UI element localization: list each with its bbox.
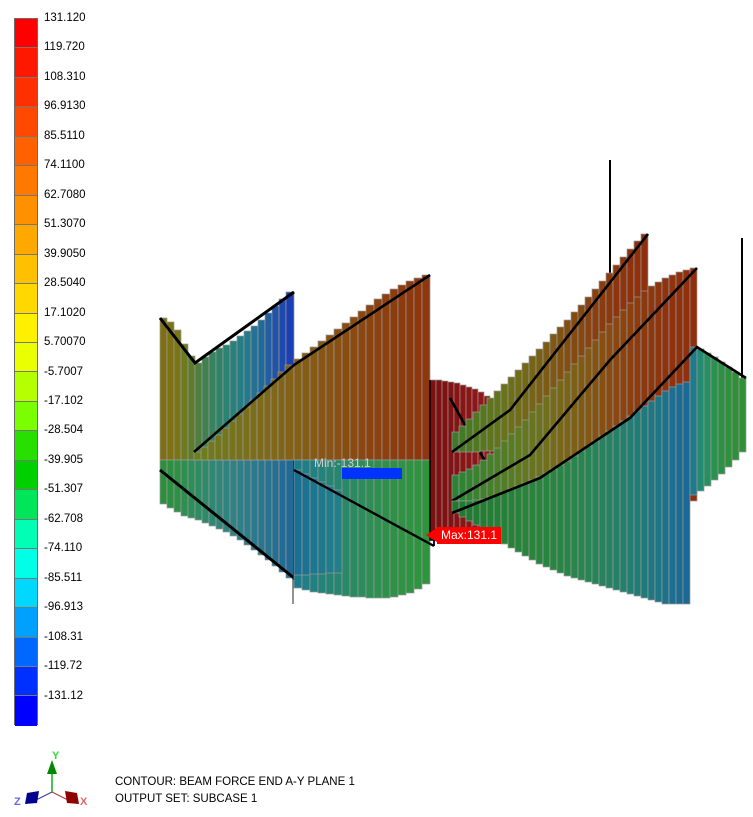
legend-tick-8: 39.9050 — [44, 249, 86, 260]
orientation-axis-triad[interactable]: Y Z X — [14, 752, 90, 812]
legend-tick-10: 17.1020 — [44, 308, 86, 319]
legend-tick-16: -51.307 — [44, 484, 83, 495]
legend-tick-4: 85.5110 — [44, 131, 85, 142]
legend-band-17 — [15, 520, 37, 549]
legend-band-20 — [15, 608, 37, 637]
beam-diagram-svg — [110, 0, 753, 740]
legend-tick-11: 5.70070 — [44, 337, 86, 348]
legend-band-1 — [15, 48, 37, 77]
legend-band-0 — [15, 19, 37, 48]
legend-band-15 — [15, 461, 37, 490]
legend-tick-9: 28.5040 — [44, 278, 86, 289]
legend-tick-20: -96.913 — [44, 602, 83, 613]
legend-tick-6: 62.7080 — [44, 190, 86, 201]
legend-tick-3: 96.9130 — [44, 101, 86, 112]
z-axis-label: Z — [14, 796, 21, 808]
legend-tick-21: -108.31 — [44, 632, 83, 643]
legend-tick-19: -85.511 — [44, 573, 82, 584]
legend-tick-12: -5.7007 — [44, 367, 83, 378]
legend-band-14 — [15, 431, 37, 460]
legend-tick-5: 74.1100 — [44, 160, 85, 171]
contour-legend: 131.120119.720108.31096.913085.511074.11… — [0, 0, 110, 740]
legend-tick-2: 108.310 — [44, 72, 86, 83]
legend-band-12 — [15, 372, 37, 401]
legend-band-11 — [15, 343, 37, 372]
legend-tick-17: -62.708 — [44, 514, 83, 525]
y-axis-arrow-icon — [47, 760, 57, 774]
legend-band-18 — [15, 549, 37, 578]
legend-band-19 — [15, 579, 37, 608]
y-axis-label: Y — [52, 750, 59, 762]
max-value-label[interactable]: Max:131.1 — [437, 527, 501, 544]
contour-caption-line: CONTOUR: BEAM FORCE END A-Y PLANE 1 — [115, 774, 355, 791]
legend-tick-14: -28.504 — [44, 425, 83, 436]
legend-band-21 — [15, 638, 37, 667]
legend-tick-18: -74.110 — [44, 543, 82, 554]
legend-color-bar[interactable] — [14, 18, 38, 725]
legend-tick-0: 131.120 — [44, 13, 86, 24]
beam-group-left-lower[interactable] — [160, 460, 294, 578]
legend-band-6 — [15, 196, 37, 225]
legend-band-9 — [15, 284, 37, 313]
legend-band-4 — [15, 137, 37, 166]
x-axis-arrow-icon — [65, 791, 79, 804]
z-axis-arrow-icon — [25, 791, 39, 804]
legend-band-2 — [15, 78, 37, 107]
legend-band-3 — [15, 107, 37, 136]
legend-tick-7: 51.3070 — [44, 219, 86, 230]
output-set-caption-line: OUTPUT SET: SUBCASE 1 — [115, 791, 355, 808]
legend-band-10 — [15, 314, 37, 343]
legend-band-5 — [15, 166, 37, 195]
legend-band-7 — [15, 225, 37, 254]
legend-band-23 — [15, 696, 37, 725]
legend-tick-15: -39.905 — [44, 455, 83, 466]
legend-tick-23: -131.12 — [44, 691, 83, 702]
legend-tick-22: -119.72 — [44, 661, 82, 672]
legend-band-16 — [15, 490, 37, 519]
legend-tick-13: -17.102 — [44, 396, 83, 407]
legend-tick-1: 119.720 — [44, 42, 85, 53]
min-value-label[interactable]: Min:-131.1 — [310, 455, 375, 472]
beam-force-diagram-viewport[interactable] — [110, 0, 753, 740]
plot-caption: CONTOUR: BEAM FORCE END A-Y PLANE 1 OUTP… — [115, 774, 355, 808]
legend-band-22 — [15, 667, 37, 696]
legend-band-8 — [15, 255, 37, 284]
x-axis-label: X — [80, 796, 87, 808]
legend-band-13 — [15, 402, 37, 431]
